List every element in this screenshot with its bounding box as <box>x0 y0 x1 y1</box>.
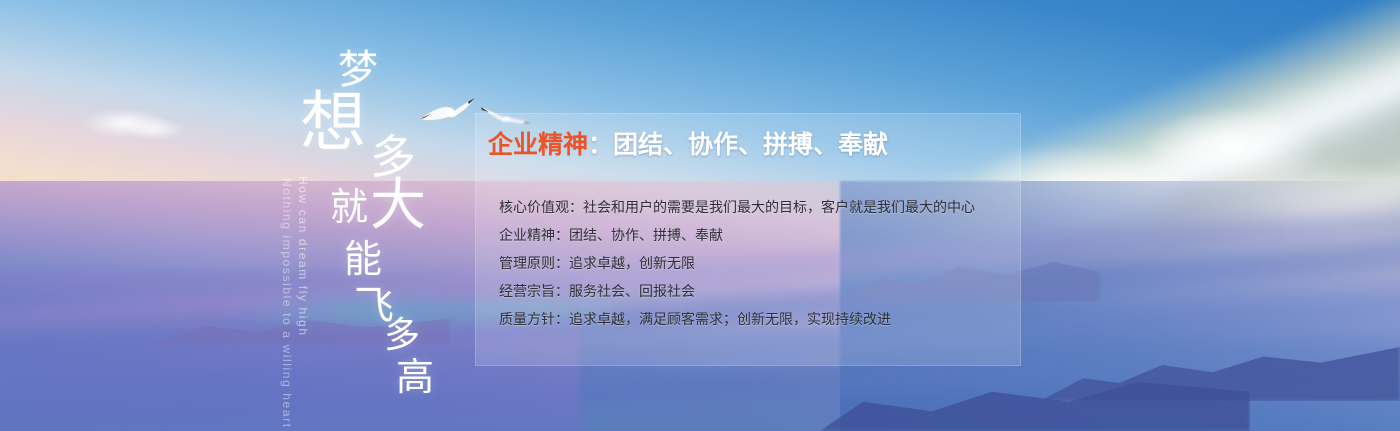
body-line-core-values: 核心价值观：社会和用户的需要是我们最大的目标，客户就是我们最大的中心 <box>499 201 1019 215</box>
headline-rest-text: ：团结、协作、拼搏、奉献 <box>588 130 888 159</box>
headline-accent-text: 企业精神 <box>488 130 588 159</box>
seagull-icon-left <box>418 92 480 128</box>
body-line-business-purpose: 经营宗旨：服务社会、回报社会 <box>499 285 1019 299</box>
body-line-quality-policy: 质量方针：追求卓越，满足顾客需求；创新无限，实现持续改进 <box>499 313 1019 327</box>
body-line-enterprise-spirit: 企业精神：团结、协作、拼搏、奉献 <box>499 229 1019 243</box>
hero-banner: 梦 想 多 大 就 能 飞 多 高 How can dream fly high… <box>0 0 1400 431</box>
small-cloud-b <box>110 112 200 146</box>
body-line-management: 管理原则：追求卓越，创新无限 <box>499 257 1019 271</box>
panel-headline: 企业精神：团结、协作、拼搏、奉献 <box>488 131 888 159</box>
panel-body-list: 核心价值观：社会和用户的需要是我们最大的目标，客户就是我们最大的中心 企业精神：… <box>499 201 1019 327</box>
